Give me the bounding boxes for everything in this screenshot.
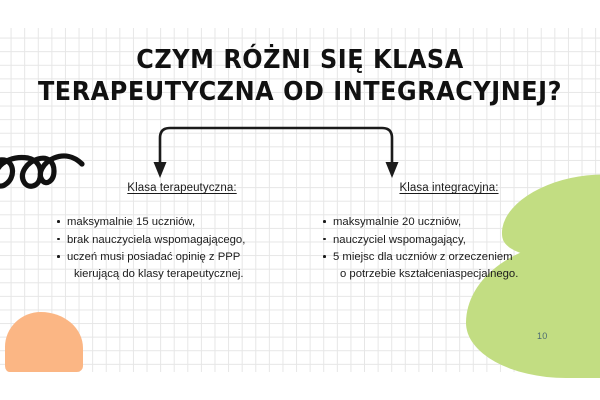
list-item: uczeń musi posiadać opinię z PPP kierują… <box>56 249 306 282</box>
bullet-text: nauczyciel wspomagający, <box>333 234 466 246</box>
column-left-bullet-list: maksymalnie 15 uczniów, brak nauczyciela… <box>56 214 306 282</box>
column-klasa-integracyjna: Klasa integracyjna: maksymalnie 20 uczni… <box>318 182 580 283</box>
column-right-title: Klasa integracyjna: <box>318 182 580 194</box>
bullet-dot-icon <box>57 220 60 223</box>
heading-line-1: CZYM RÓŻNI SIĘ KLASA <box>24 44 576 76</box>
bullet-text: brak nauczyciela wspomagającego, <box>67 234 245 246</box>
bullet-text-continuation: o potrzebie kształceniaspecjalnego. <box>333 266 580 283</box>
arrowhead-right <box>386 162 399 178</box>
slide-canvas: CZYM RÓŻNI SIĘ KLASA TERAPEUTYCZNA OD IN… <box>0 0 600 400</box>
bullet-text: 5 miejsc dla uczniów z orzeczeniem <box>333 251 513 263</box>
heading-line-2: TERAPEUTYCZNA OD INTEGRACYJNEJ? <box>24 76 576 108</box>
arrowhead-left <box>154 162 167 178</box>
column-left-title: Klasa terapeutyczna: <box>48 182 306 194</box>
bullet-dot-icon <box>323 220 326 223</box>
slide-heading: CZYM RÓŻNI SIĘ KLASA TERAPEUTYCZNA OD IN… <box>0 44 600 108</box>
list-item: maksymalnie 20 uczniów, <box>322 214 580 231</box>
list-item: nauczyciel wspomagający, <box>322 232 580 249</box>
list-item: brak nauczyciela wspomagającego, <box>56 232 306 249</box>
column-klasa-terapeutyczna: Klasa terapeutyczna: maksymalnie 15 uczn… <box>48 182 306 283</box>
bullet-dot-icon <box>57 255 60 258</box>
bullet-text: maksymalnie 20 uczniów, <box>333 216 461 228</box>
page-number: 10 <box>537 331 548 341</box>
bullet-dot-icon <box>57 238 60 241</box>
split-bracket-arrow-down <box>146 120 406 178</box>
bullet-text-continuation: kierującą do klasy terapeutycznej. <box>67 266 306 283</box>
bullet-text: maksymalnie 15 uczniów, <box>67 216 195 228</box>
bullet-dot-icon <box>323 255 326 258</box>
bullet-dot-icon <box>323 238 326 241</box>
bullet-text: uczeń musi posiadać opinię z PPP <box>67 251 240 263</box>
list-item: 5 miejsc dla uczniów z orzeczeniem o pot… <box>322 249 580 282</box>
list-item: maksymalnie 15 uczniów, <box>56 214 306 231</box>
column-right-bullet-list: maksymalnie 20 uczniów, nauczyciel wspom… <box>322 214 580 282</box>
